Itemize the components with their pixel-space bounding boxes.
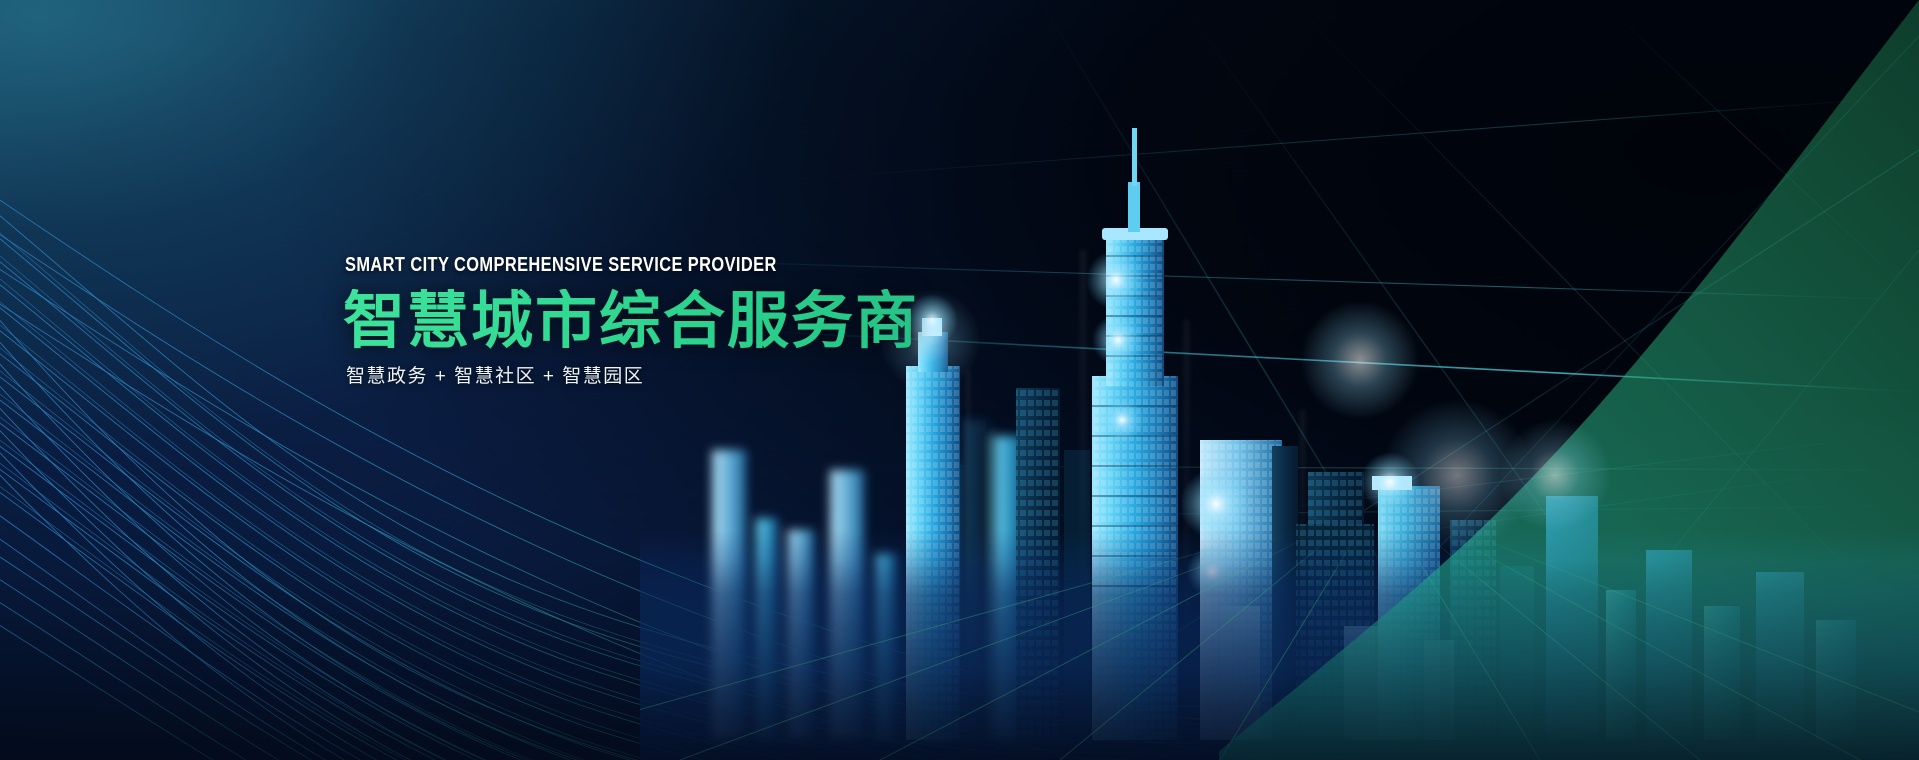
hero-eyebrow-tagline: SMART CITY COMPREHENSIVE SERVICE PROVIDE… <box>345 255 1032 275</box>
hero-text-block: SMART CITY COMPREHENSIVE SERVICE PROVIDE… <box>343 255 1183 389</box>
hero-subline: 智慧政务 + 智慧社区 + 智慧园区 <box>346 366 1183 389</box>
smart-city-hero-banner: SMART CITY COMPREHENSIVE SERVICE PROVIDE… <box>0 0 1919 760</box>
bottom-fade-haze <box>0 560 1919 760</box>
hero-headline: 智慧城市综合服务商 <box>343 289 1183 356</box>
